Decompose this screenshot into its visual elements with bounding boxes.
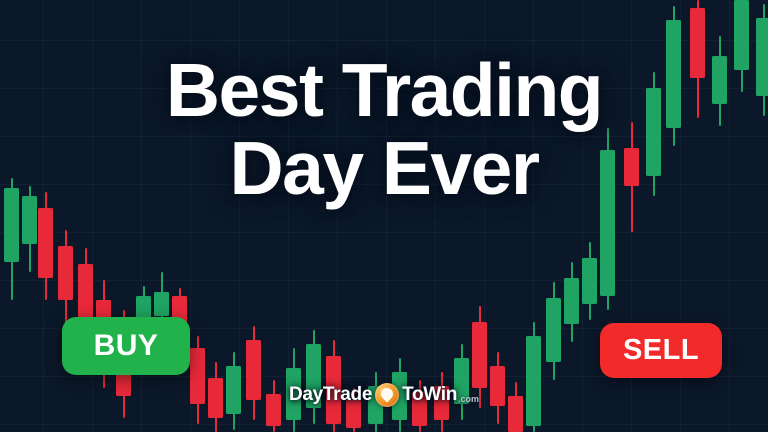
candle-body (600, 150, 615, 296)
candle-body (368, 386, 383, 424)
candlestick-29 (546, 0, 561, 432)
candlestick-26 (490, 0, 505, 432)
candlestick-18 (326, 0, 341, 432)
candle-body (154, 292, 169, 316)
candle-body (208, 378, 223, 418)
candlestick-39 (756, 0, 768, 432)
candle-body (490, 366, 505, 406)
candlestick-17 (306, 0, 321, 432)
candle-body (346, 400, 361, 428)
candlestick-13 (226, 0, 241, 432)
candlestick-20 (368, 0, 383, 432)
candle-body (136, 296, 151, 318)
candlestick-38 (734, 0, 749, 432)
candle-body (306, 344, 321, 408)
candlestick-30 (564, 0, 579, 432)
candle-body (526, 336, 541, 426)
candle-body (286, 368, 301, 420)
candle-body (412, 392, 427, 426)
candlestick-21 (392, 0, 407, 432)
candle-body (266, 394, 281, 426)
candlestick-2 (22, 0, 37, 432)
buy-button-label: BUY (94, 329, 159, 363)
candle-body (734, 0, 749, 70)
candle-body (4, 188, 19, 262)
candlestick-1 (4, 0, 19, 432)
candle-body (38, 208, 53, 278)
candle-body (454, 358, 469, 404)
candlestick-28 (526, 0, 541, 432)
candlestick-15 (266, 0, 281, 432)
buy-button[interactable]: BUY (62, 317, 190, 375)
candle-body (508, 396, 523, 432)
candlestick-11 (190, 0, 205, 432)
candle-body (666, 20, 681, 128)
candle-body (58, 246, 73, 300)
candle-body (472, 322, 487, 388)
candle-body (326, 356, 341, 424)
candle-body (246, 340, 261, 400)
candle-body (712, 56, 727, 104)
candlestick-14 (246, 0, 261, 432)
candle-body (756, 18, 768, 96)
candle-body (22, 196, 37, 244)
candle-body (582, 258, 597, 304)
candlestick-12 (208, 0, 223, 432)
candlestick-27 (508, 0, 523, 432)
candle-body (392, 372, 407, 420)
candlestick-16 (286, 0, 301, 432)
candle-body (546, 298, 561, 362)
candle-body (564, 278, 579, 324)
candle-body (624, 148, 639, 186)
sell-button-label: SELL (623, 334, 699, 367)
candle-body (226, 366, 241, 414)
candlestick-24 (454, 0, 469, 432)
candle-body (646, 88, 661, 176)
candlestick-23 (434, 0, 449, 432)
candlestick-3 (38, 0, 53, 432)
candlestick-19 (346, 0, 361, 432)
promo-thumbnail: Best Trading Day Ever BUY SELL DayTrade … (0, 0, 768, 432)
candle-body (190, 348, 205, 404)
candlestick-25 (472, 0, 487, 432)
candlestick-31 (582, 0, 597, 432)
candle-body (690, 8, 705, 78)
sell-button[interactable]: SELL (600, 323, 722, 378)
candlestick-22 (412, 0, 427, 432)
candle-body (434, 386, 449, 420)
